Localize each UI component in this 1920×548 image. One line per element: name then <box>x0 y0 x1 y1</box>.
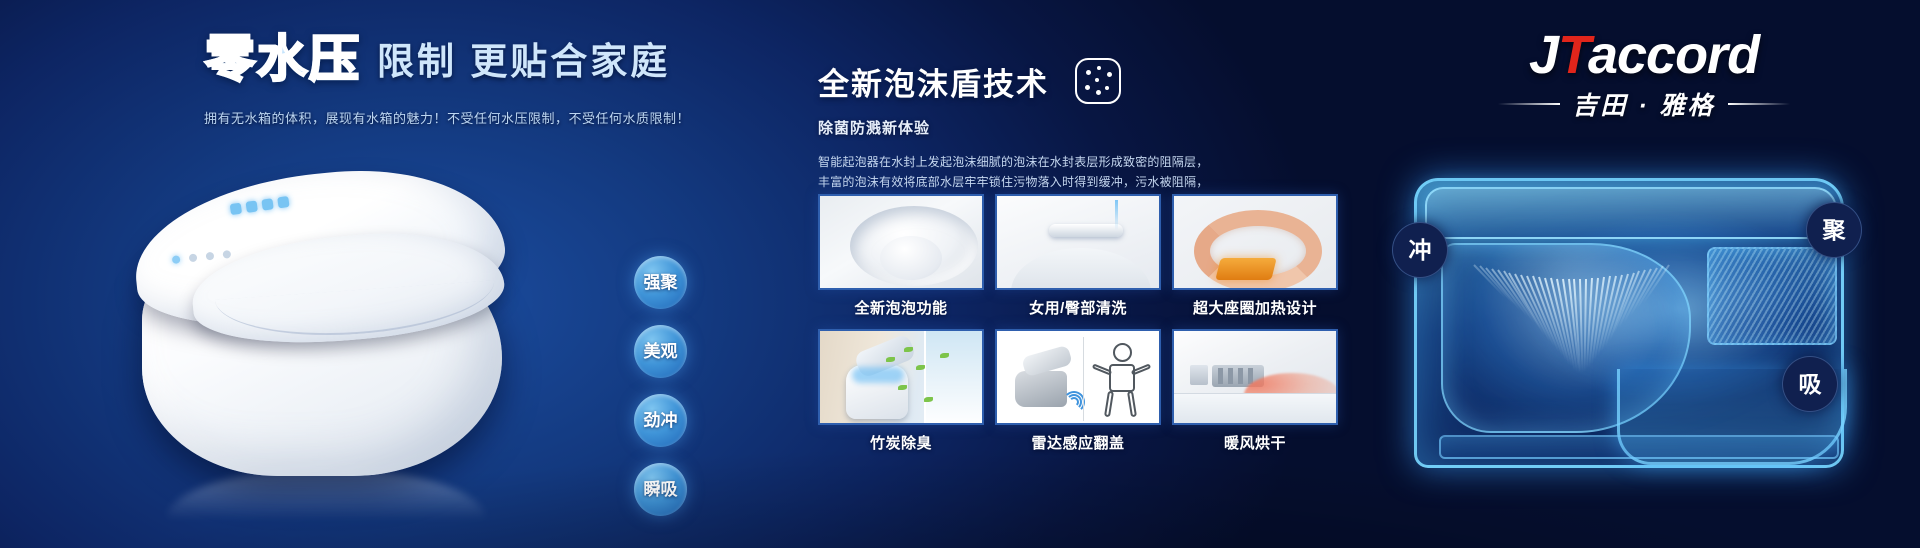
foam-shield-title: 全新泡沫盾技术 <box>818 59 1049 104</box>
feature-label: 雷达感应翻盖 <box>995 432 1161 453</box>
logo-chinese-row: 吉田 · 雅格 <box>1464 86 1824 122</box>
description-line: 丰富的泡沫有效将底部水层牢牢锁住污物落入时得到缓冲，污水被阻隔， <box>818 173 1218 193</box>
logo-letter-j: J <box>1529 25 1558 85</box>
foam-shield-subtitle: 除菌防溅新体验 <box>818 117 1338 138</box>
logo-rule-left <box>1498 103 1560 105</box>
feature-card-deodorize[interactable]: 竹炭除臭 <box>818 329 984 453</box>
feature-card-wash[interactable]: 女用/臀部清洗 <box>995 194 1161 318</box>
bamboo-charcoal-deodorize-photo <box>818 329 984 425</box>
side-button <box>206 252 215 261</box>
wash-nozzle-photo <box>995 194 1161 290</box>
warm-air-dryer-photo <box>1172 329 1338 425</box>
person-icon <box>1093 343 1153 417</box>
side-button <box>189 253 198 262</box>
toilet-xray-cutaway-illustration: 冲 聚 吸 <box>1396 138 1886 508</box>
bubble-shield-icon <box>1075 58 1121 104</box>
feature-card-radar-lid[interactable]: 雷达感应翻盖 <box>995 329 1161 453</box>
feature-card-warm-dry[interactable]: 暖风烘干 <box>1172 329 1338 453</box>
logo-rule-right <box>1728 103 1790 105</box>
logo-wordmark: JTaccord <box>1464 28 1824 82</box>
promo-banner: 零水压 限制 更贴合家庭 拥有无水箱的体积，展现有水箱的魅力！不受任何水压限制，… <box>0 0 1920 548</box>
headline-emphasis: 零水压 <box>205 34 361 84</box>
headline: 零水压 限制 更贴合家庭 <box>205 34 670 84</box>
right-section: JTaccord 吉田 · 雅格 冲 聚 吸 <box>1360 0 1920 548</box>
feature-tag-shunxi[interactable]: 瞬吸 <box>634 463 687 516</box>
logo-word-accord: accord <box>1588 25 1759 85</box>
feature-label: 竹炭除臭 <box>818 432 984 453</box>
feature-card-heated-seat[interactable]: 超大座圈加热设计 <box>1172 194 1338 318</box>
xray-badge-ju[interactable]: 聚 <box>1806 202 1862 258</box>
xray-water-chamber <box>1707 247 1837 345</box>
xray-badge-chong[interactable]: 冲 <box>1392 222 1448 278</box>
led-indicator <box>261 198 273 210</box>
xray-badge-xi[interactable]: 吸 <box>1782 356 1838 412</box>
smart-toilet-photo <box>120 148 550 488</box>
feature-label: 暖风烘干 <box>1172 432 1338 453</box>
logo-chinese-name: 吉田 · 雅格 <box>1572 86 1715 122</box>
feature-tag-jingchong[interactable]: 劲冲 <box>634 394 687 447</box>
heated-seat-ring-photo <box>1172 194 1338 290</box>
feature-grid: 全新泡泡功能 女用/臀部清洗 超大座圈加热设计 <box>818 194 1338 453</box>
description-line: 智能起泡器在水封上发起泡沫细腻的泡沫在水封表层形成致密的阻隔层， <box>818 153 1218 173</box>
xray-base <box>1439 435 1839 459</box>
logo-letter-t: T <box>1558 25 1588 85</box>
feature-tag-qiangju[interactable]: 强聚 <box>634 256 687 309</box>
feature-label: 超大座圈加热设计 <box>1172 297 1338 318</box>
feature-label: 女用/臀部清洗 <box>995 297 1161 318</box>
radar-sensor-lid-photo <box>995 329 1161 425</box>
toilet-bowl-foam-photo <box>818 194 984 290</box>
headline-subtitle: 拥有无水箱的体积，展现有水箱的魅力！不受任何水压限制，不受任何水质限制！ <box>204 108 690 127</box>
side-button <box>222 250 231 259</box>
left-section: 零水压 限制 更贴合家庭 拥有无水箱的体积，展现有水箱的魅力！不受任何水压限制，… <box>0 0 700 548</box>
feature-grid-row: 全新泡泡功能 女用/臀部清洗 超大座圈加热设计 <box>818 194 1338 318</box>
feature-tag-list: 强聚 美观 劲冲 瞬吸 <box>634 256 687 516</box>
middle-section: 全新泡沫盾技术 除菌防溅新体验 智能起泡器在水封上发起泡沫细腻的泡沫在水封表层形… <box>818 0 1338 548</box>
led-indicator <box>230 202 242 214</box>
xray-shell <box>1414 178 1844 468</box>
foam-shield-heading: 全新泡沫盾技术 <box>818 58 1338 104</box>
feature-label: 全新泡泡功能 <box>818 297 984 318</box>
feature-grid-row: 竹炭除臭 <box>818 329 1338 453</box>
side-button <box>172 255 181 264</box>
feature-tag-meiguan[interactable]: 美观 <box>634 325 687 378</box>
headline-rest: 限制 更贴合家庭 <box>377 43 670 84</box>
led-indicator <box>277 195 289 207</box>
brand-logo[interactable]: JTaccord 吉田 · 雅格 <box>1464 28 1824 122</box>
feature-card-foam[interactable]: 全新泡泡功能 <box>818 194 984 318</box>
led-indicator <box>245 200 257 212</box>
xray-lid <box>1425 187 1837 239</box>
